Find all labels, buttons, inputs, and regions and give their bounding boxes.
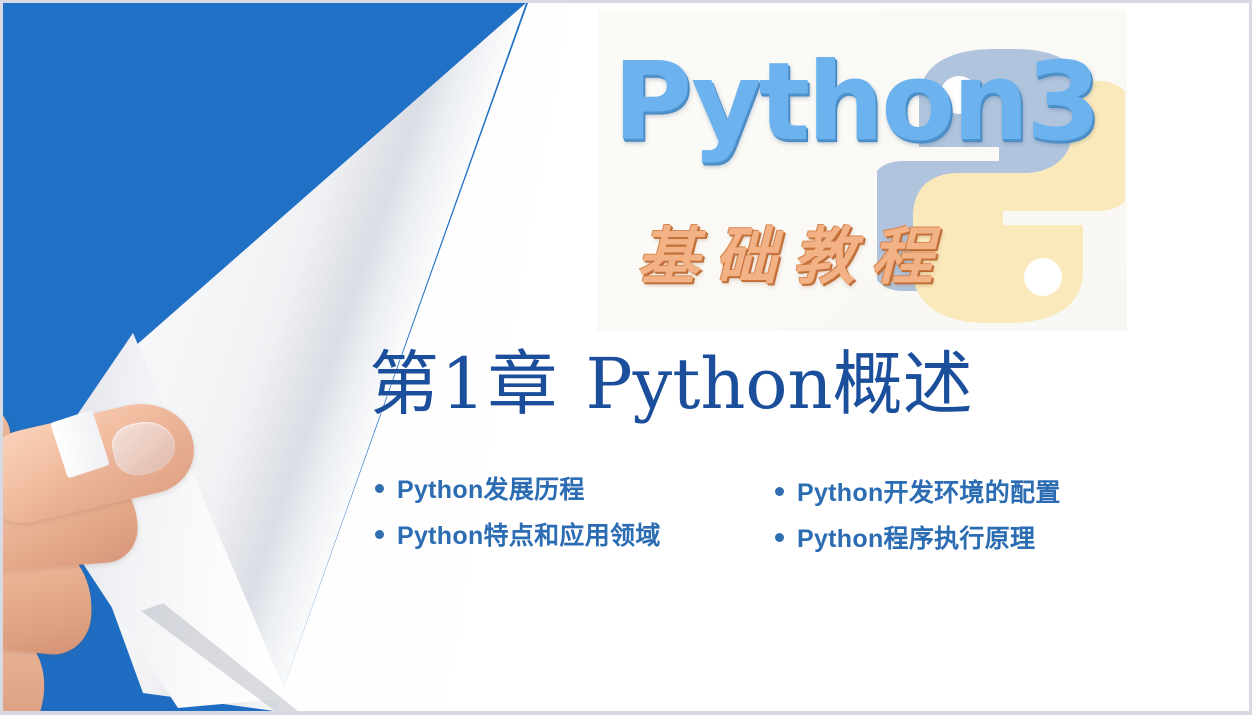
python-logo-block: Python3 基础教程 xyxy=(597,9,1127,331)
list-item-label: Python程序执行原理 xyxy=(797,519,1035,555)
hand-illustration xyxy=(3,398,233,711)
calligraphy-subtitle: 基础教程 xyxy=(637,209,1037,305)
chapter-number-label: 第1章 xyxy=(369,343,560,425)
list-item[interactable]: Python发展历程 xyxy=(375,465,661,511)
bullet-dot-icon xyxy=(375,484,384,493)
bullet-dot-icon xyxy=(375,530,384,539)
topic-outline: Python发展历程 Python特点和应用领域 Python开发环境的配置 P… xyxy=(375,465,1095,575)
topic-column-left: Python发展历程 Python特点和应用领域 xyxy=(375,465,661,557)
list-item[interactable]: Python特点和应用领域 xyxy=(375,511,661,557)
list-item-label: Python开发环境的配置 xyxy=(797,473,1061,509)
slide-frame: Python3 基础教程 第1章Python概述 Python发展历程 Pyth… xyxy=(0,0,1252,715)
page-title: 第1章Python概述 xyxy=(369,336,1049,432)
list-item[interactable]: Python开发环境的配置 xyxy=(775,468,1061,514)
slide-canvas: Python3 基础教程 第1章Python概述 Python发展历程 Pyth… xyxy=(3,3,1249,711)
list-item-label: Python发展历程 xyxy=(397,470,585,506)
chapter-topic-label: Python概述 xyxy=(586,343,973,425)
python3-wordmark: Python3 xyxy=(613,37,1083,169)
topic-column-right: Python开发环境的配置 Python程序执行原理 xyxy=(775,468,1061,560)
bullet-dot-icon xyxy=(775,487,784,496)
list-item[interactable]: Python程序执行原理 xyxy=(775,514,1061,560)
bullet-dot-icon xyxy=(775,533,784,542)
list-item-label: Python特点和应用领域 xyxy=(397,516,661,552)
